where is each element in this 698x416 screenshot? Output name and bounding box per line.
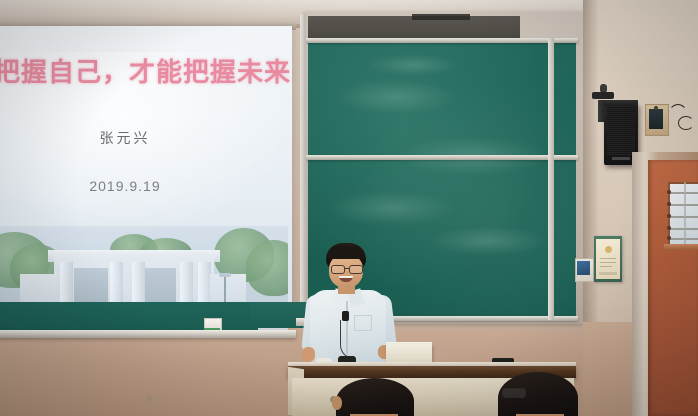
speaker-logo — [612, 157, 630, 160]
list-item — [336, 378, 414, 416]
student-eyeglasses-icon — [502, 388, 526, 398]
door-window-sill — [664, 244, 698, 250]
speaker-grill — [607, 106, 635, 156]
microphone-cable — [340, 320, 355, 359]
slide-author: 张元兴 — [0, 128, 250, 148]
lecture-hall-photo: 把握自己，才能把握未来 张元兴 2019.9.19 — [0, 0, 698, 416]
chalkboard-track-vertical — [548, 38, 554, 320]
wall-knob — [146, 396, 152, 402]
presenter-fringe — [327, 246, 365, 259]
presenter-left-hand — [302, 347, 315, 362]
chalkboard-rail-middle — [306, 155, 578, 160]
chalkboard-track-notch — [412, 14, 470, 20]
wall-panel-screw — [654, 106, 658, 110]
eyeglasses-bridge — [344, 268, 349, 269]
small-wall-monitor-screen — [577, 261, 590, 275]
notice-emblem-icon — [605, 246, 612, 253]
eyeglasses-icon — [331, 265, 345, 274]
chalkboard-rail-top — [306, 38, 578, 43]
wall-control-panel[interactable] — [649, 109, 663, 129]
hanging-cable-2 — [678, 116, 694, 130]
chalk-tray — [0, 330, 296, 338]
door-frame-shadow — [632, 152, 644, 416]
speaker-mount-arm — [592, 92, 614, 99]
slide-date: 2019.9.19 — [0, 178, 250, 194]
slide-title: 把握自己，才能把握未来 — [0, 52, 264, 89]
student-ear-left — [332, 396, 342, 410]
presenter-shirt-pocket — [354, 315, 372, 331]
eyeglasses-icon-right — [349, 265, 363, 274]
